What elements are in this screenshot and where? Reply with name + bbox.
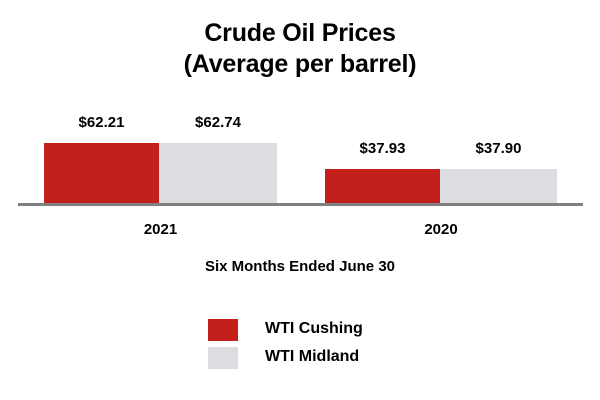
value-label-2020-wti-cushing: $37.93 bbox=[325, 140, 440, 157]
plot-area: $62.21 $62.74 $37.93 $37.90 2021 2020 Si… bbox=[0, 0, 600, 400]
bar-2020-wti-cushing[interactable] bbox=[325, 169, 440, 204]
category-label-2020: 2020 bbox=[325, 221, 557, 238]
bar-2020-wti-midland[interactable] bbox=[440, 169, 557, 204]
legend-label-wti-midland: WTI Midland bbox=[265, 346, 359, 368]
legend-label-wti-cushing: WTI Cushing bbox=[265, 318, 363, 340]
value-label-2021-wti-midland: $62.74 bbox=[159, 114, 277, 131]
x-axis-title: Six Months Ended June 30 bbox=[0, 258, 600, 275]
bar-2021-wti-midland[interactable] bbox=[159, 143, 277, 204]
bar-2021-wti-cushing[interactable] bbox=[44, 143, 159, 204]
value-label-2021-wti-cushing: $62.21 bbox=[44, 114, 159, 131]
category-label-2021: 2021 bbox=[44, 221, 277, 238]
x-axis-line bbox=[18, 203, 583, 206]
value-label-2020-wti-midland: $37.90 bbox=[440, 140, 557, 157]
crude-oil-prices-chart: Crude Oil Prices (Average per barrel) $6… bbox=[0, 0, 600, 400]
legend-swatch-icon-wti-midland bbox=[208, 347, 238, 369]
legend-swatch-icon-wti-cushing bbox=[208, 319, 238, 341]
